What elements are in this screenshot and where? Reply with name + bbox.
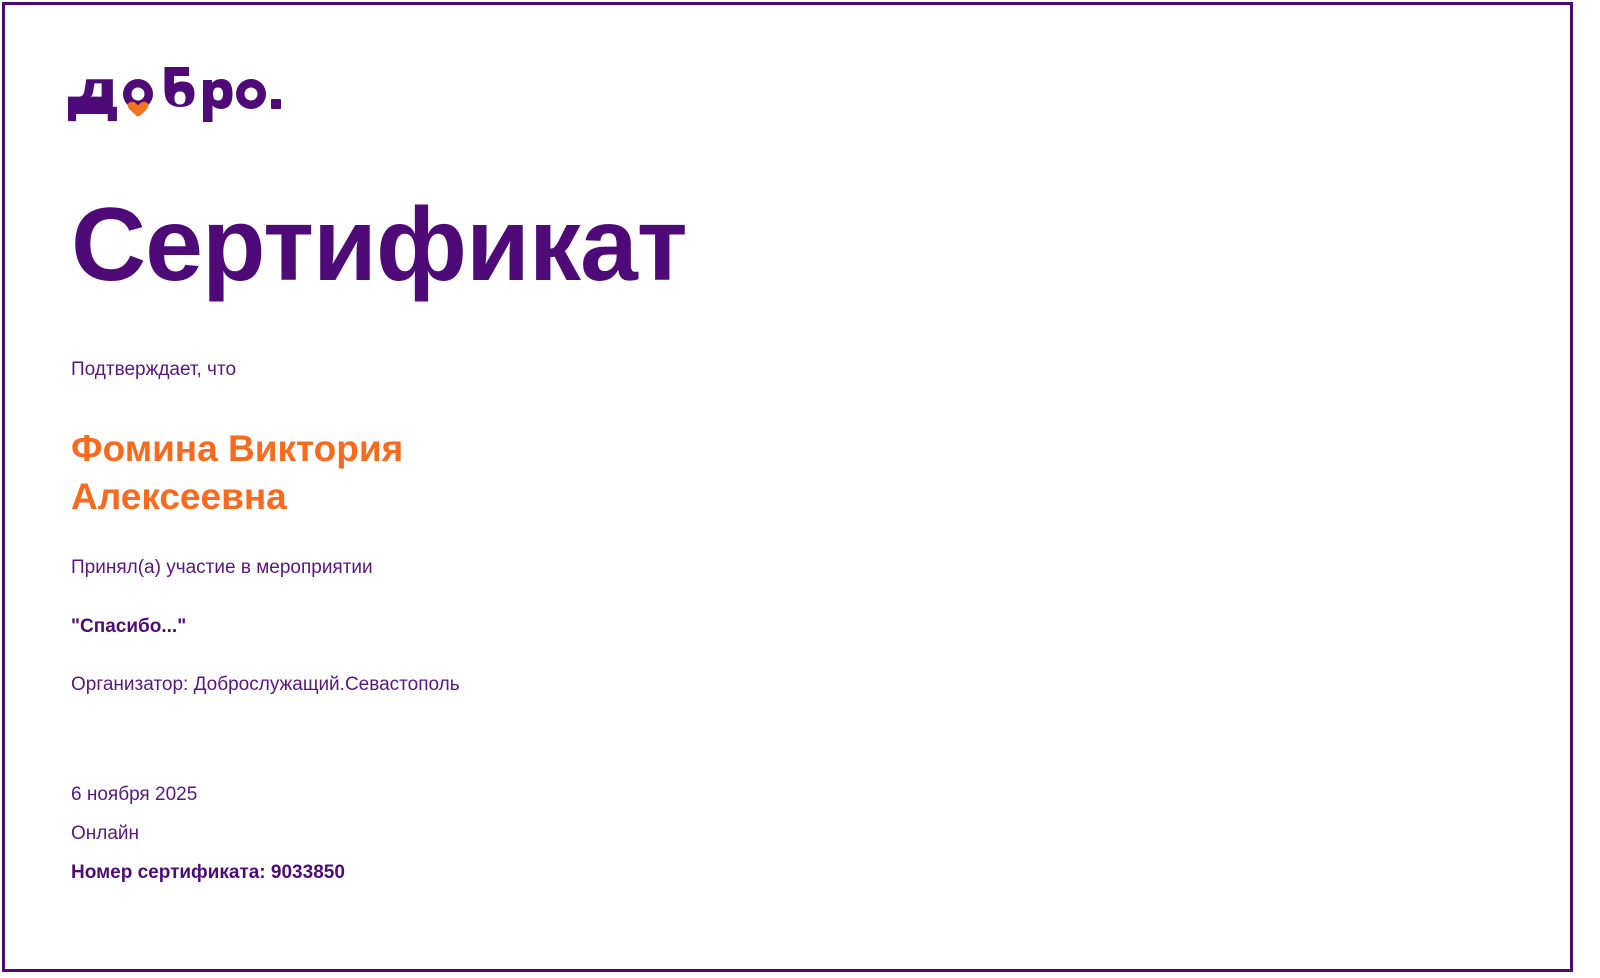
certificate-number-value: 9033850 bbox=[271, 862, 345, 883]
organizer-line: Организатор: Доброслужащий.Севастополь bbox=[71, 672, 691, 698]
participation-label: Принял(а) участие в мероприятии bbox=[71, 555, 691, 581]
certificate-number-label: Номер сертификата: bbox=[71, 862, 266, 883]
event-title: "Спасибо..." bbox=[71, 614, 691, 640]
recipient-name: Фомина Виктория Алексеевна bbox=[71, 425, 591, 523]
certificate-number: Номер сертификата: 9033850 bbox=[71, 861, 691, 885]
event-format: Онлайн bbox=[71, 822, 691, 846]
brand-logo: добро.рф bbox=[67, 63, 307, 125]
page-title: Сертификат bbox=[71, 187, 687, 303]
certificate-meta: 6 ноября 2025 Онлайн Номер сертификата: … bbox=[71, 783, 691, 884]
certificate-body: Подтверждает, что Фомина Виктория Алексе… bbox=[71, 357, 691, 697]
issue-date: 6 ноября 2025 bbox=[71, 783, 691, 807]
confirms-label: Подтверждает, что bbox=[71, 357, 691, 383]
dobro-rf-logo-icon bbox=[67, 63, 307, 125]
certificate-page: добро.рф Сертификат Подтверждает, что Фо… bbox=[2, 2, 1573, 972]
